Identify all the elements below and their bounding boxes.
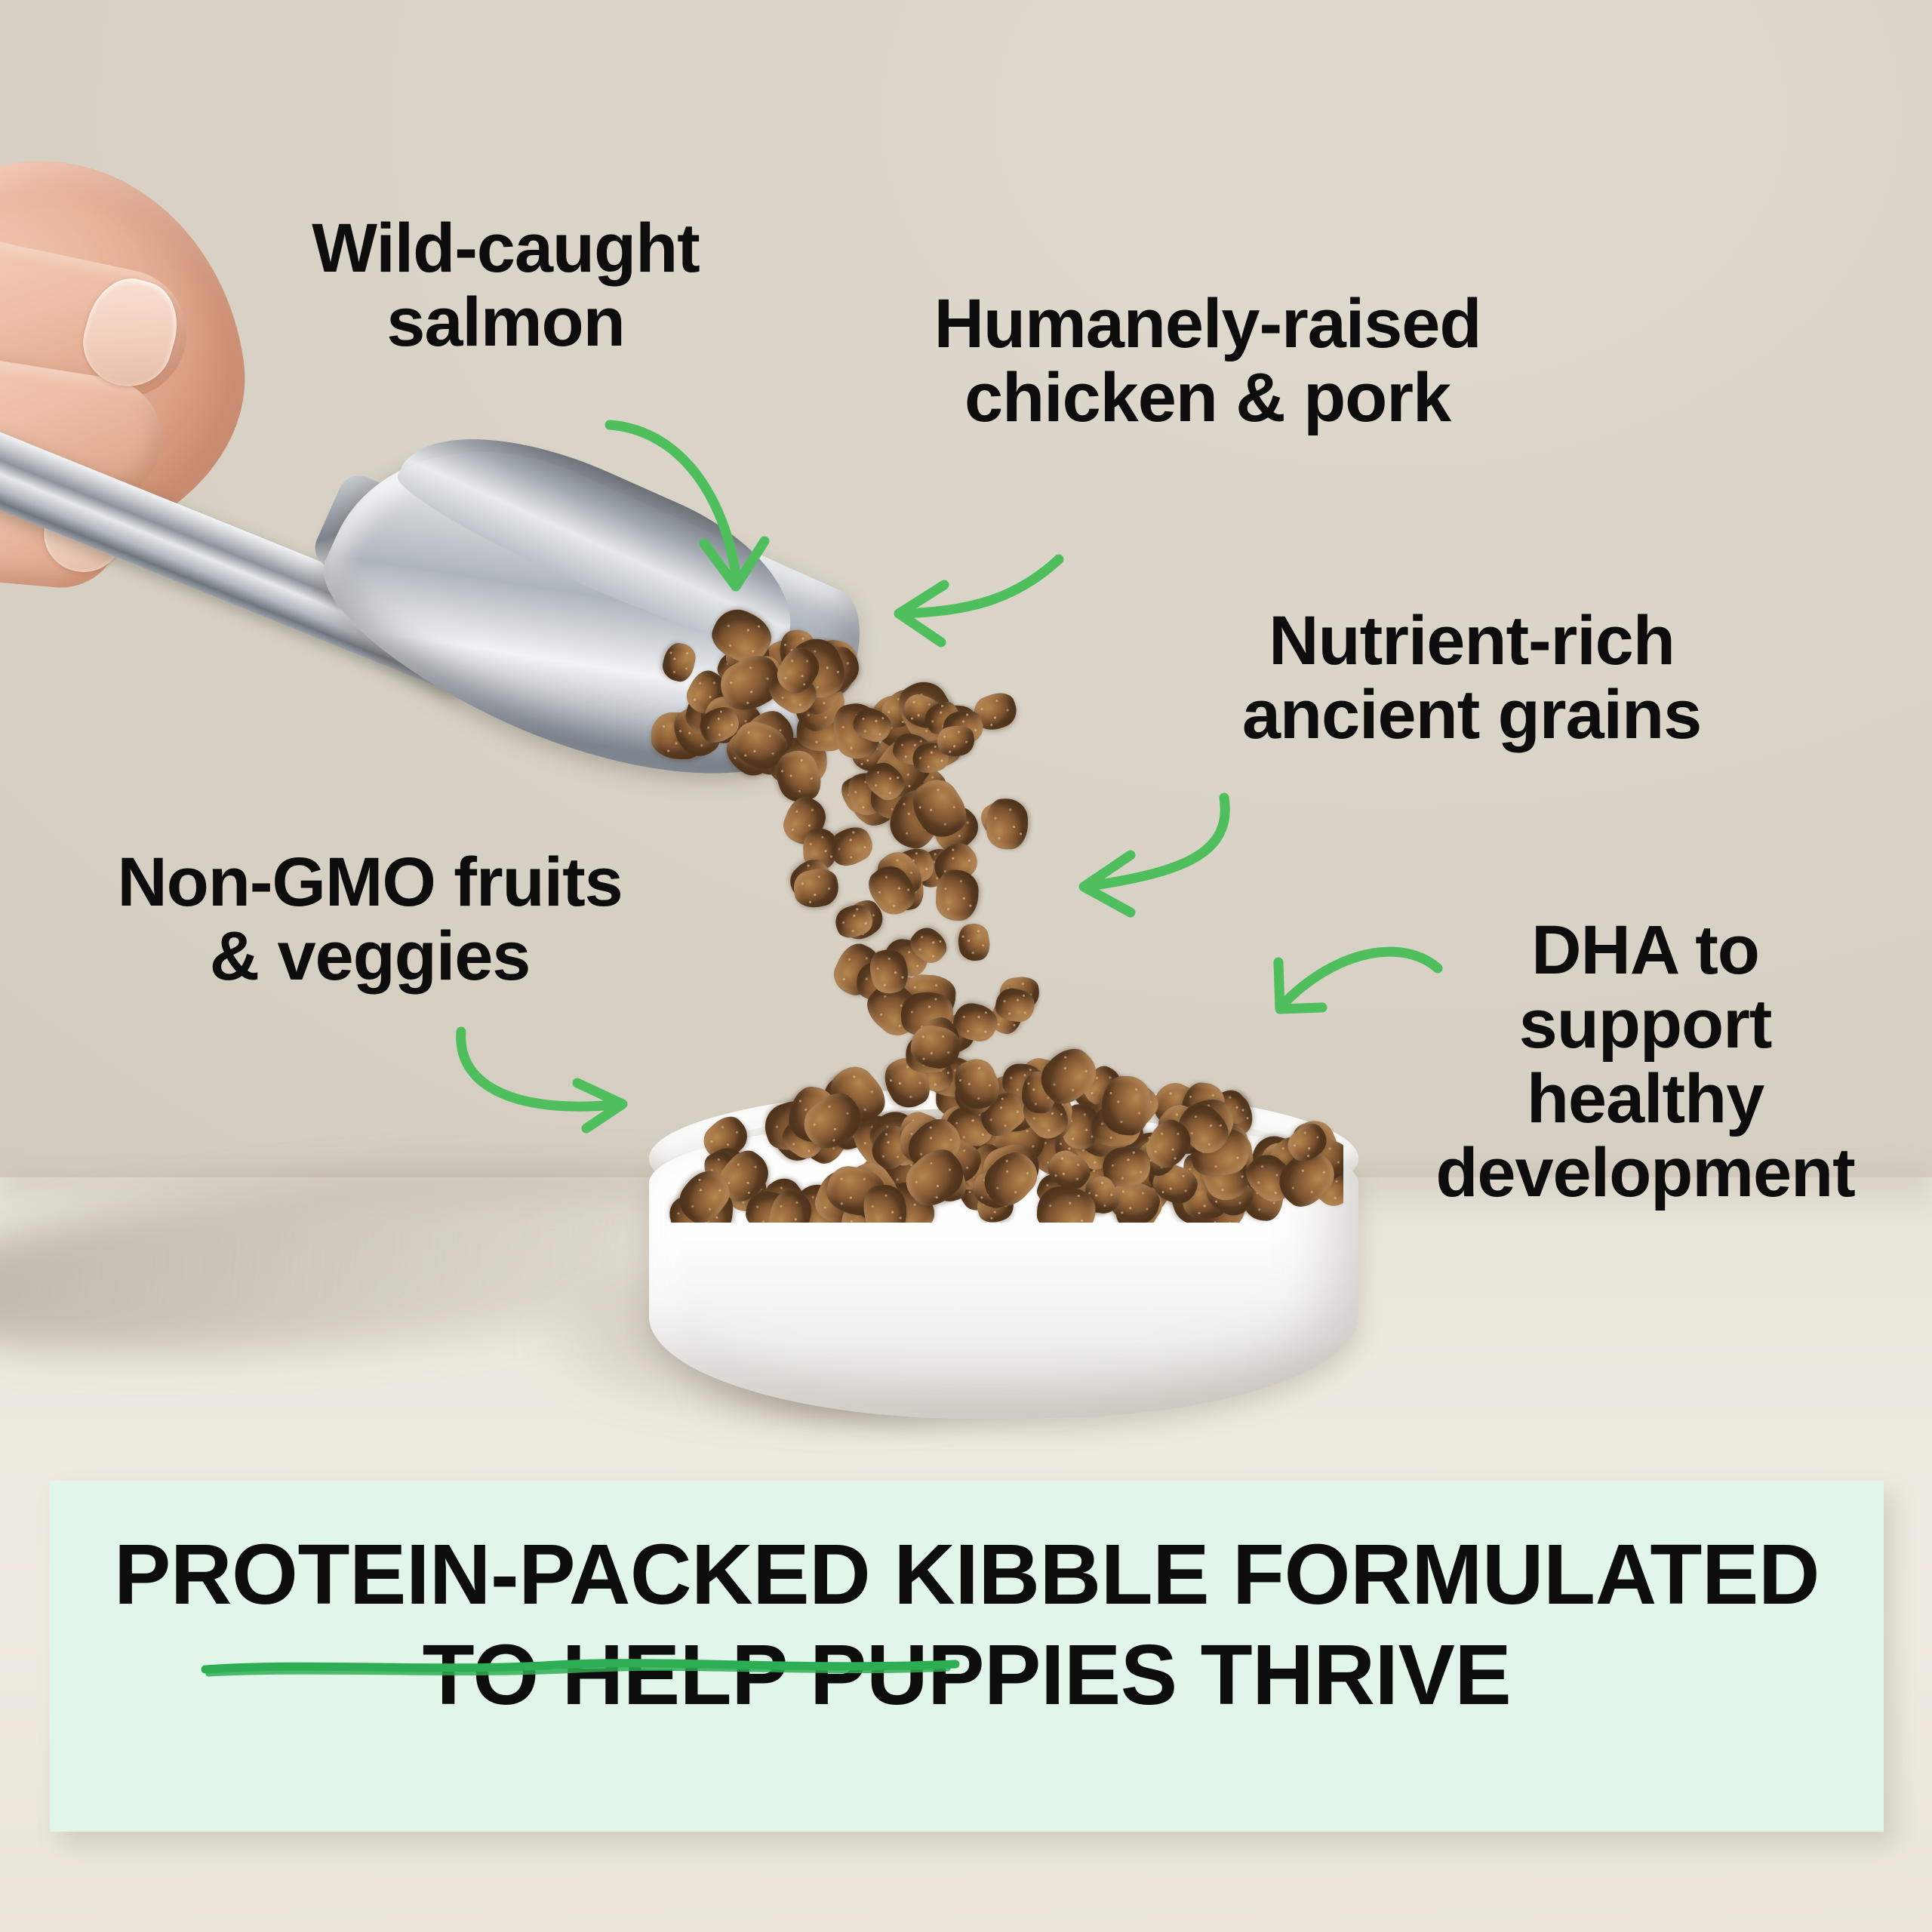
- headline-line-1: PROTEIN-PACKED KIBBLE FORMULATED: [114, 1524, 1820, 1625]
- kibble-piece: [936, 869, 980, 921]
- callout-label-ancient-grains: Nutrient-rich ancient grains: [1177, 604, 1766, 752]
- kibble-piece: [660, 641, 697, 684]
- headline-banner: PROTEIN-PACKED KIBBLE FORMULATED TO HELP…: [50, 1481, 1884, 1832]
- kibble-piece: [1101, 1075, 1152, 1135]
- callout-label-salmon: Wild-caught salmon: [264, 211, 747, 360]
- product-feature-graphic: Wild-caught salmon Humanely-raised chick…: [0, 0, 1932, 1932]
- headline-underline-icon: [201, 1654, 1016, 1680]
- callout-label-dha: DHA to support healthy development: [1381, 913, 1909, 1211]
- curved-arrow-left-icon: [894, 555, 1155, 691]
- curved-arrow-right-icon: [426, 1023, 675, 1174]
- curved-arrow-down-icon: [581, 411, 838, 608]
- callout-label-non-gmo: Non-GMO fruits & veggies: [45, 845, 694, 994]
- kibble-piece: [986, 798, 1029, 850]
- callout-label-chicken-pork: Humanely-raised chicken & pork: [898, 287, 1517, 435]
- kibble-piece: [955, 921, 992, 962]
- kibble-in-bowl: [664, 1004, 1343, 1223]
